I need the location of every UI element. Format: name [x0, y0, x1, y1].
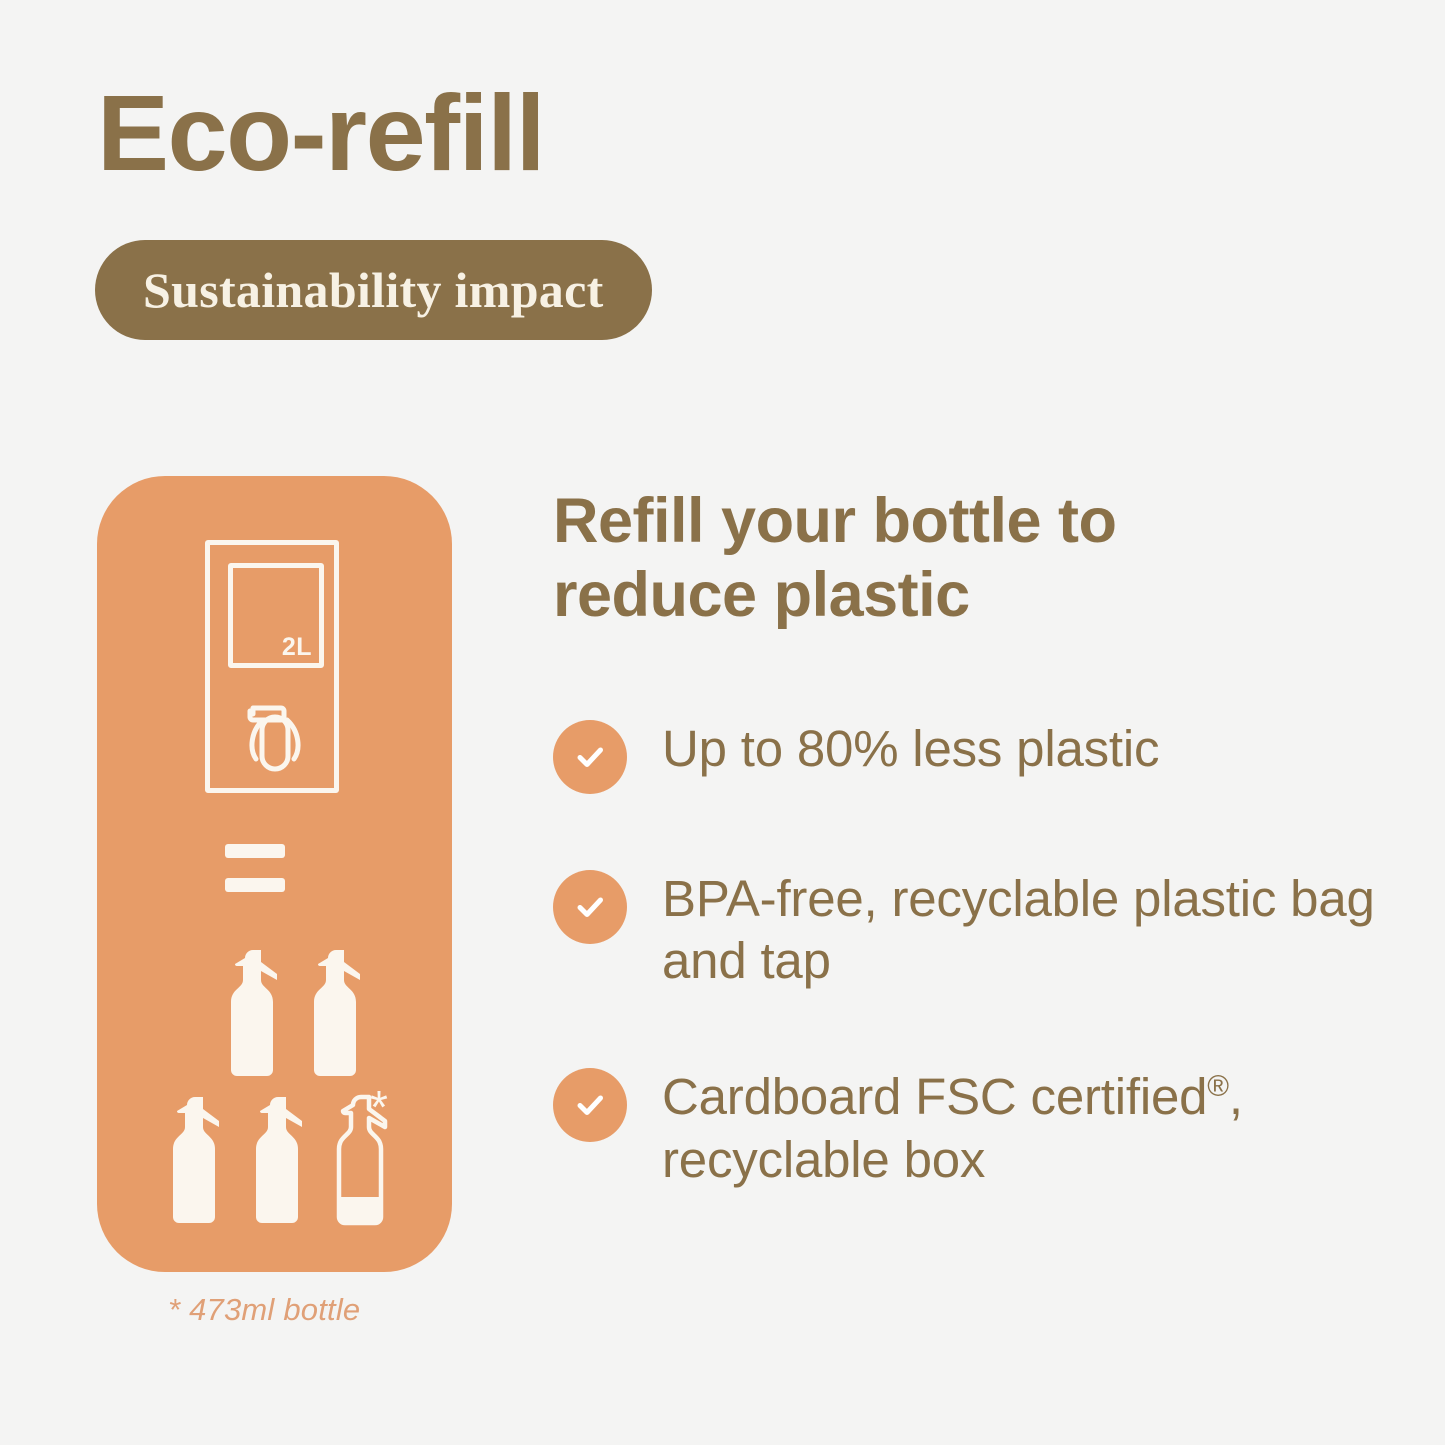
illustration-panel: 2L [97, 476, 452, 1272]
content-column: Refill your bottle to reduce plastic Up … [553, 484, 1383, 633]
spray-bottle-icon [165, 1091, 237, 1227]
list-item-text-main: Cardboard FSC certified [662, 1068, 1207, 1125]
spray-bottle-row-top [223, 944, 378, 1080]
status-badge: Sustainability impact [95, 240, 652, 340]
equals-bar-top [225, 844, 285, 858]
spray-bottle-icon [248, 1091, 320, 1227]
spray-bottle-partial-icon [331, 1091, 403, 1227]
equals-sign-icon [225, 844, 285, 892]
check-circle-icon [553, 1068, 627, 1142]
tap-spout-icon [243, 701, 307, 775]
benefits-list: Up to 80% less plastic BPA-free, recycla… [553, 716, 1383, 1263]
refill-box-icon: 2L [205, 540, 339, 793]
status-badge-label: Sustainability impact [143, 261, 604, 319]
list-item-label: Up to 80% less plastic [662, 716, 1159, 780]
list-item: Up to 80% less plastic [553, 716, 1383, 794]
list-item-text-main: BPA-free, recyclable plastic bag and tap [662, 870, 1375, 989]
footnote-text: * 473ml bottle [168, 1292, 360, 1328]
spray-bottle-row-bottom [165, 1091, 403, 1227]
page-title: Eco-refill [97, 76, 544, 189]
list-item: BPA-free, recyclable plastic bag and tap [553, 866, 1383, 992]
spray-bottle-icon [223, 944, 295, 1080]
list-item-label: Cardboard FSC certified®, recyclable box [662, 1064, 1383, 1190]
list-item-superscript: ® [1207, 1070, 1229, 1103]
spray-bottles-group: * [165, 944, 405, 1224]
refill-box-window: 2L [228, 563, 324, 668]
list-item-text-main: Up to 80% less plastic [662, 720, 1159, 777]
list-item-label: BPA-free, recyclable plastic bag and tap [662, 866, 1383, 992]
check-circle-icon [553, 870, 627, 944]
check-circle-icon [553, 720, 627, 794]
content-title: Refill your bottle to reduce plastic [553, 484, 1273, 633]
list-item: Cardboard FSC certified®, recyclable box [553, 1064, 1383, 1190]
infographic-canvas: Eco-refill Sustainability impact 2L [0, 0, 1445, 1445]
refill-volume-label: 2L [282, 635, 312, 660]
spray-bottle-icon [306, 944, 378, 1080]
equals-bar-bottom [225, 878, 285, 892]
asterisk-marker: * [370, 1084, 388, 1130]
